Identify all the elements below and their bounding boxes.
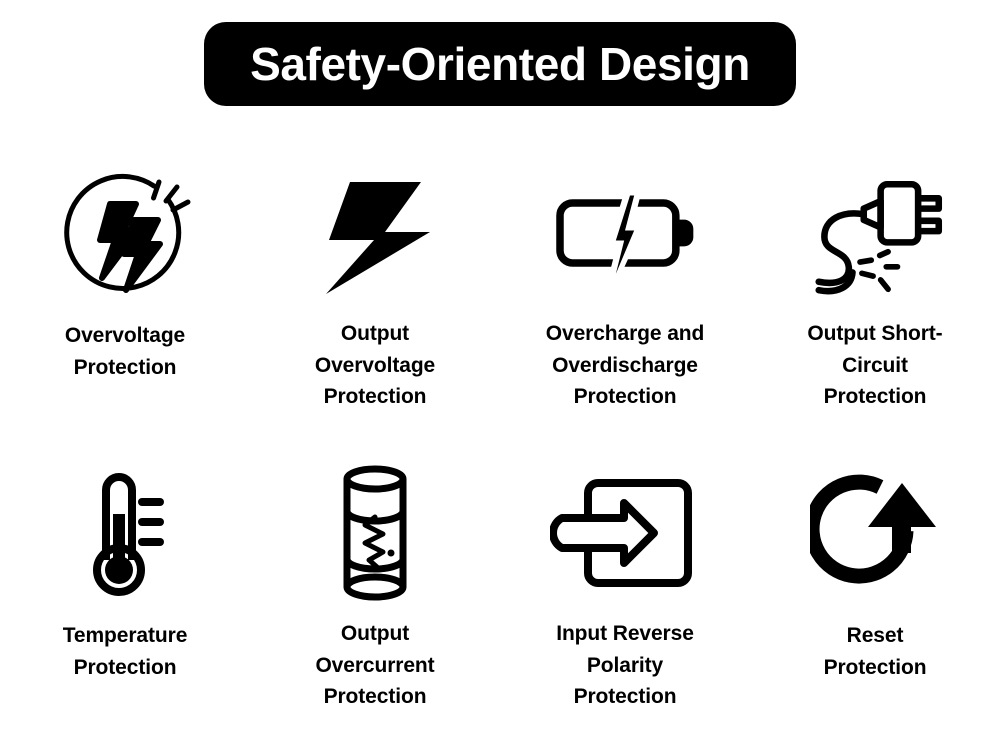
lightning-bolt-icon [300, 158, 450, 308]
feature-label-line: Overdischarge [546, 350, 705, 382]
thermometer-icon [50, 458, 200, 608]
feature-item-input-reverse-polarity-protection: Input Reverse Polarity Protection [500, 458, 750, 748]
feature-label: Overcharge and Overdischarge Protection [546, 318, 705, 413]
feature-label: Output Short- Circuit Protection [807, 318, 942, 413]
feature-label-line: Overcharge and [546, 318, 705, 350]
feature-label-line: Protection [556, 681, 694, 713]
feature-label: Reset Protection [824, 620, 927, 683]
feature-item-output-overcurrent-protection: Output Overcurrent Protection [250, 458, 500, 748]
feature-item-output-short-circuit-protection: Output Short- Circuit Protection [750, 158, 1000, 458]
feature-label-line: Protection [65, 352, 185, 384]
page-title: Safety-Oriented Design [250, 41, 750, 87]
feature-grid: Overvoltage Protection Output Overvoltag… [0, 158, 1000, 748]
reset-circular-arrow-icon [800, 458, 950, 608]
feature-label-line: Overcurrent [315, 650, 434, 682]
feature-label-line: Protection [546, 381, 705, 413]
feature-item-temperature-protection: Temperature Protection [0, 458, 250, 748]
feature-label-line: Output [315, 618, 434, 650]
lightning-bolts-in-circle-icon [50, 158, 200, 308]
feature-label: Output Overvoltage Protection [315, 318, 435, 413]
battery-bolt-icon [550, 158, 700, 308]
feature-label-line: Temperature [63, 620, 188, 652]
feature-label-line: Output [315, 318, 435, 350]
feature-item-reset-protection: Reset Protection [750, 458, 1000, 748]
feature-label: Temperature Protection [63, 620, 188, 683]
feature-label-line: Polarity [556, 650, 694, 682]
arrow-into-box-icon [550, 458, 700, 608]
feature-label-line: Overvoltage [315, 350, 435, 382]
feature-label-line: Protection [315, 381, 435, 413]
fuse-icon [300, 458, 450, 608]
feature-label-line: Input Reverse [556, 618, 694, 650]
feature-label: Input Reverse Polarity Protection [556, 618, 694, 713]
feature-label-line: Protection [315, 681, 434, 713]
feature-label-line: Output Short- [807, 318, 942, 350]
feature-label-line: Protection [824, 652, 927, 684]
feature-item-output-overvoltage-protection: Output Overvoltage Protection [250, 158, 500, 458]
feature-label: Overvoltage Protection [65, 320, 185, 383]
feature-label-line: Reset [824, 620, 927, 652]
feature-label-line: Protection [63, 652, 188, 684]
feature-item-overvoltage-protection: Overvoltage Protection [0, 158, 250, 458]
feature-label-line: Protection [807, 381, 942, 413]
title-banner: Safety-Oriented Design [204, 22, 796, 106]
feature-item-overcharge-overdischarge-protection: Overcharge and Overdischarge Protection [500, 158, 750, 458]
title-banner-wrapper: Safety-Oriented Design [0, 22, 1000, 106]
feature-label: Output Overcurrent Protection [315, 618, 434, 713]
feature-label-line: Circuit [807, 350, 942, 382]
broken-plug-cord-icon [800, 158, 950, 308]
feature-label-line: Overvoltage [65, 320, 185, 352]
